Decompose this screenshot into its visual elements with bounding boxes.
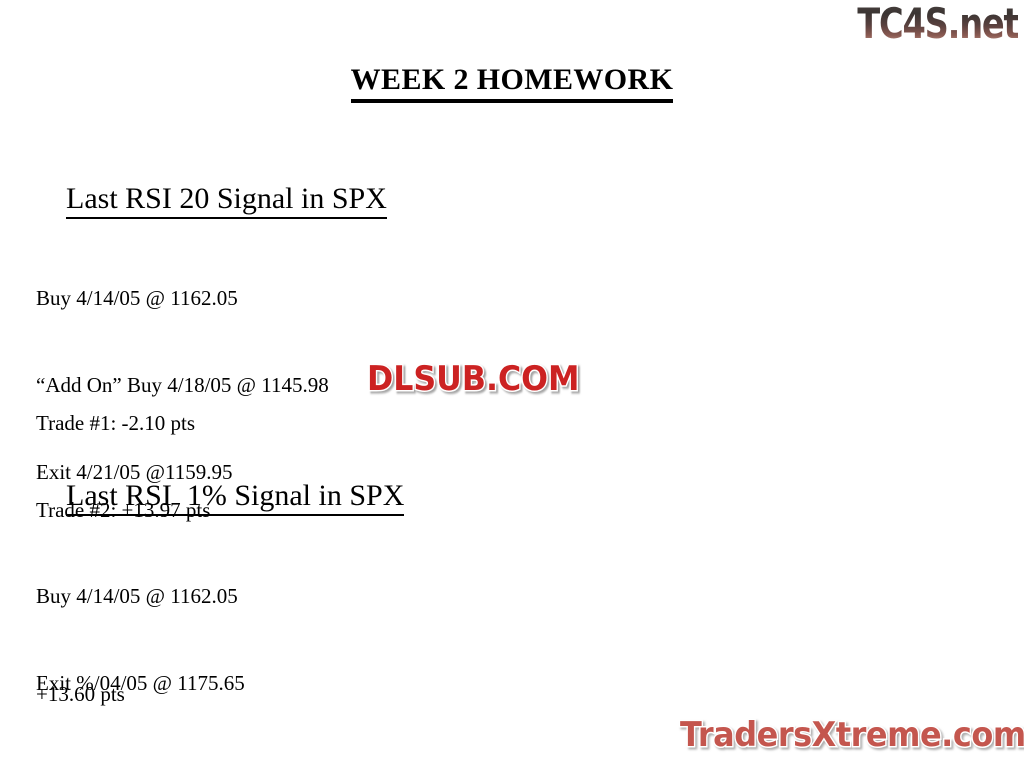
section-heading-rsi1pct-text: Last RSI 1% Signal in SPX	[66, 479, 404, 516]
signal-line-buy: Buy 4/14/05 @ 1162.05	[36, 284, 329, 313]
brand-logo-tc4s: TC4S.net	[857, 2, 1018, 46]
signal-line-buy: Buy 4/14/05 @ 1162.05	[36, 582, 245, 611]
page-title-text: WEEK 2 HOMEWORK	[351, 63, 674, 103]
section-heading-rsi20-text: Last RSI 20 Signal in SPX	[66, 182, 387, 219]
brand-logo-tradersxtreme: TradersXtreme.com	[680, 716, 1024, 754]
trade-result-1: Trade #1: -2.10 pts	[36, 409, 210, 438]
trade-results-rsi1pct: +13.60 pts	[36, 622, 125, 767]
trade-result-total: +13.60 pts	[36, 680, 125, 709]
slide-canvas: TC4S.net WEEK 2 HOMEWORK Last RSI 20 Sig…	[0, 0, 1024, 768]
watermark-dlsub: DLSUB.COM	[367, 360, 580, 398]
page-title: WEEK 2 HOMEWORK	[0, 63, 1024, 103]
